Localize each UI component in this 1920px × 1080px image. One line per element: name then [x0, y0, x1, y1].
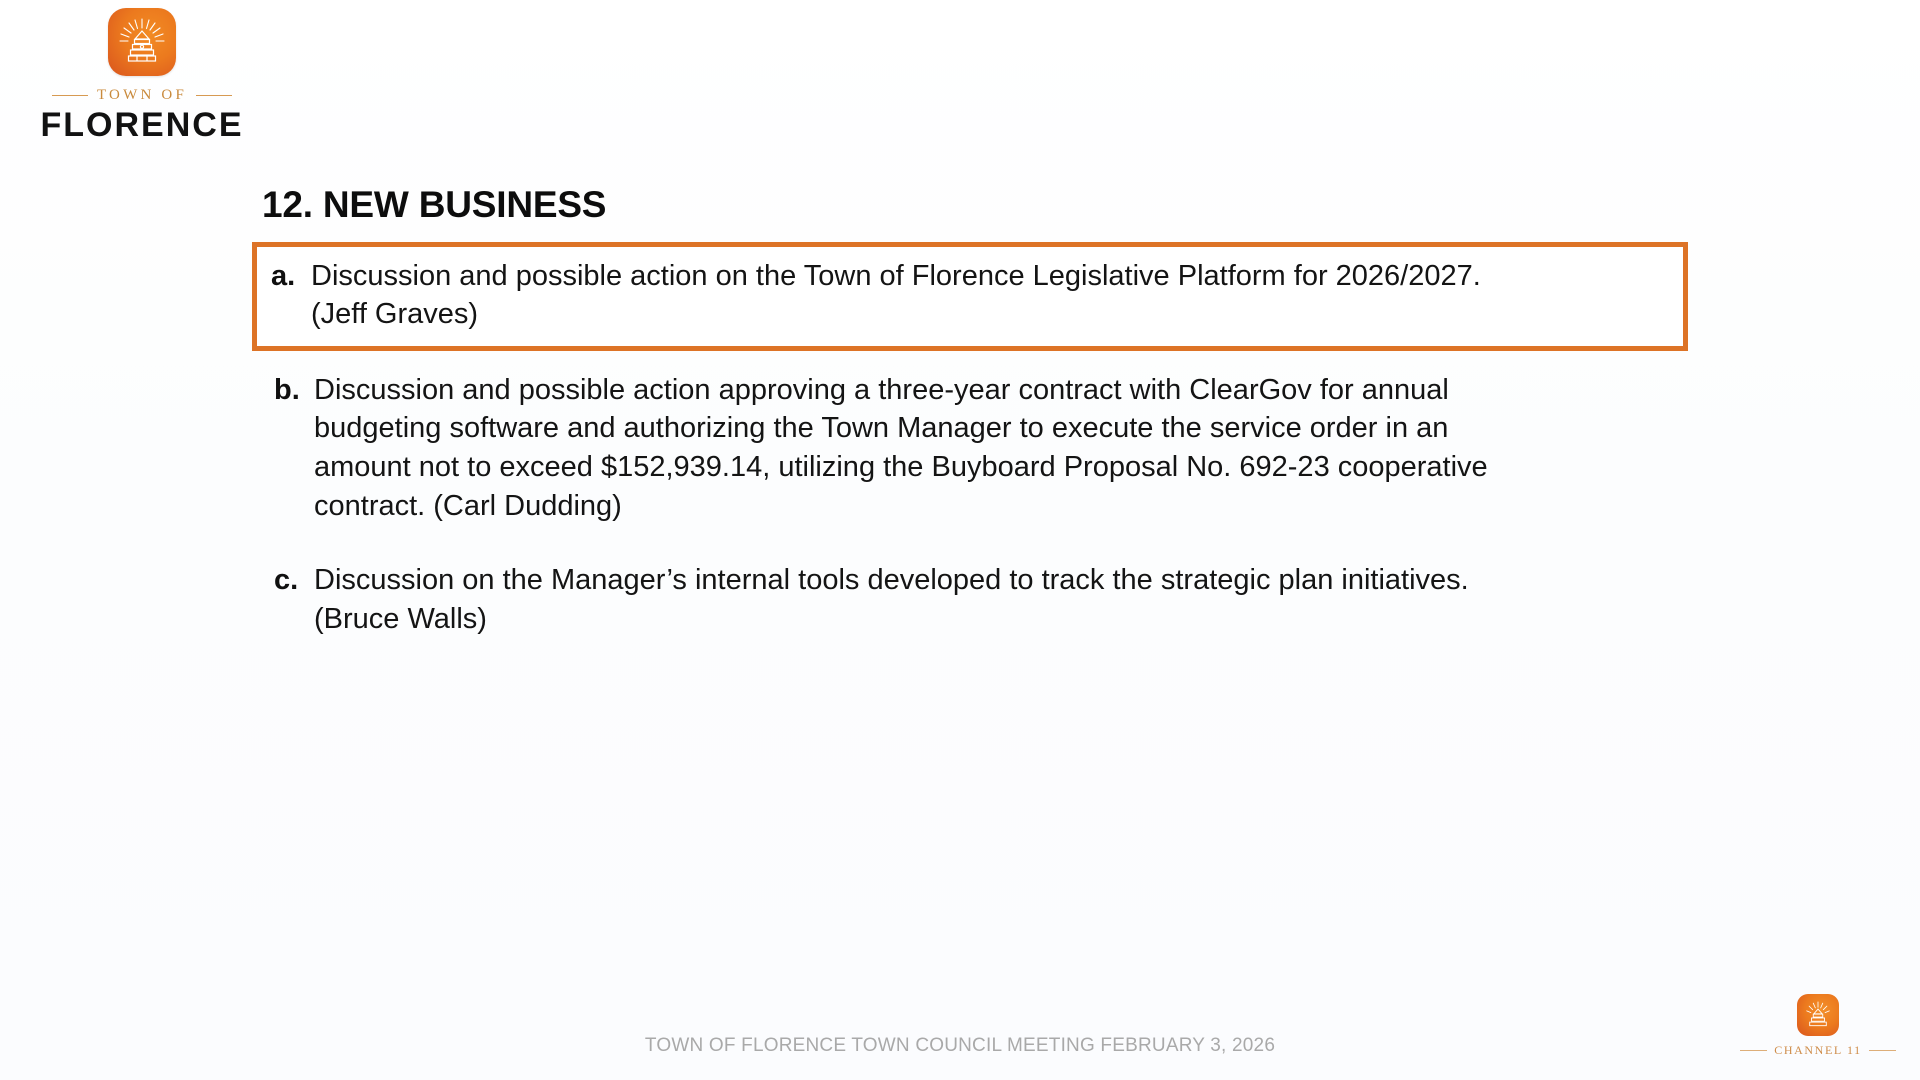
agenda-item-a-line-1: Discussion and possible action on the To… [311, 257, 1673, 296]
footer-meeting-label: TOWN OF FLORENCE TOWN COUNCIL MEETING FE… [0, 1035, 1920, 1057]
channel-label: CHANNEL 11 [1774, 1043, 1861, 1058]
page-title: 12. NEW BUSINESS [262, 185, 1688, 226]
channel-rule-left [1740, 1050, 1767, 1051]
agenda-item-c-line-2: (Bruce Walls) [314, 600, 1678, 639]
brand-name-label: FLORENCE [22, 108, 262, 144]
agenda-item-b-marker: b. [274, 371, 304, 410]
brand-eyebrow: TOWN OF [22, 87, 262, 104]
sunburst-monument-icon [1797, 994, 1839, 1036]
town-of-florence-logo: TOWN OF FLORENCE [22, 8, 262, 144]
agenda-item-b-line-1: Discussion and possible action approving… [314, 371, 1678, 410]
agenda-item-c-text: Discussion on the Manager’s internal too… [314, 561, 1678, 638]
agenda-item-b[interactable]: b. Discussion and possible action approv… [258, 367, 1688, 529]
brand-rule-left [52, 95, 88, 96]
agenda-item-c-marker: c. [274, 561, 304, 600]
agenda-item-a-marker: a. [271, 257, 301, 296]
agenda-item-c[interactable]: c. Discussion on the Manager’s internal … [258, 557, 1688, 642]
brand-eyebrow-label: TOWN OF [97, 87, 187, 104]
agenda-item-b-line-2: budgeting software and authorizing the T… [314, 409, 1678, 448]
slide-content: 12. NEW BUSINESS a. Discussion and possi… [258, 185, 1688, 654]
agenda-item-b-text: Discussion and possible action approving… [314, 371, 1678, 525]
sunburst-monument-icon [108, 8, 176, 76]
channel-label-row: CHANNEL 11 [1740, 1043, 1896, 1058]
agenda-item-c-line-1: Discussion on the Manager’s internal too… [314, 561, 1678, 600]
brand-rule-right [196, 95, 232, 96]
agenda-item-a-text: Discussion and possible action on the To… [311, 257, 1673, 334]
agenda-item-a-line-2: (Jeff Graves) [311, 295, 1673, 334]
channel-rule-right [1869, 1050, 1896, 1051]
agenda-item-b-line-3: amount not to exceed $152,939.14, utiliz… [314, 448, 1678, 487]
agenda-item-a[interactable]: a. Discussion and possible action on the… [252, 242, 1688, 351]
agenda-item-b-line-4: contract. (Carl Dudding) [314, 487, 1678, 526]
channel-watermark: CHANNEL 11 [1740, 994, 1896, 1058]
